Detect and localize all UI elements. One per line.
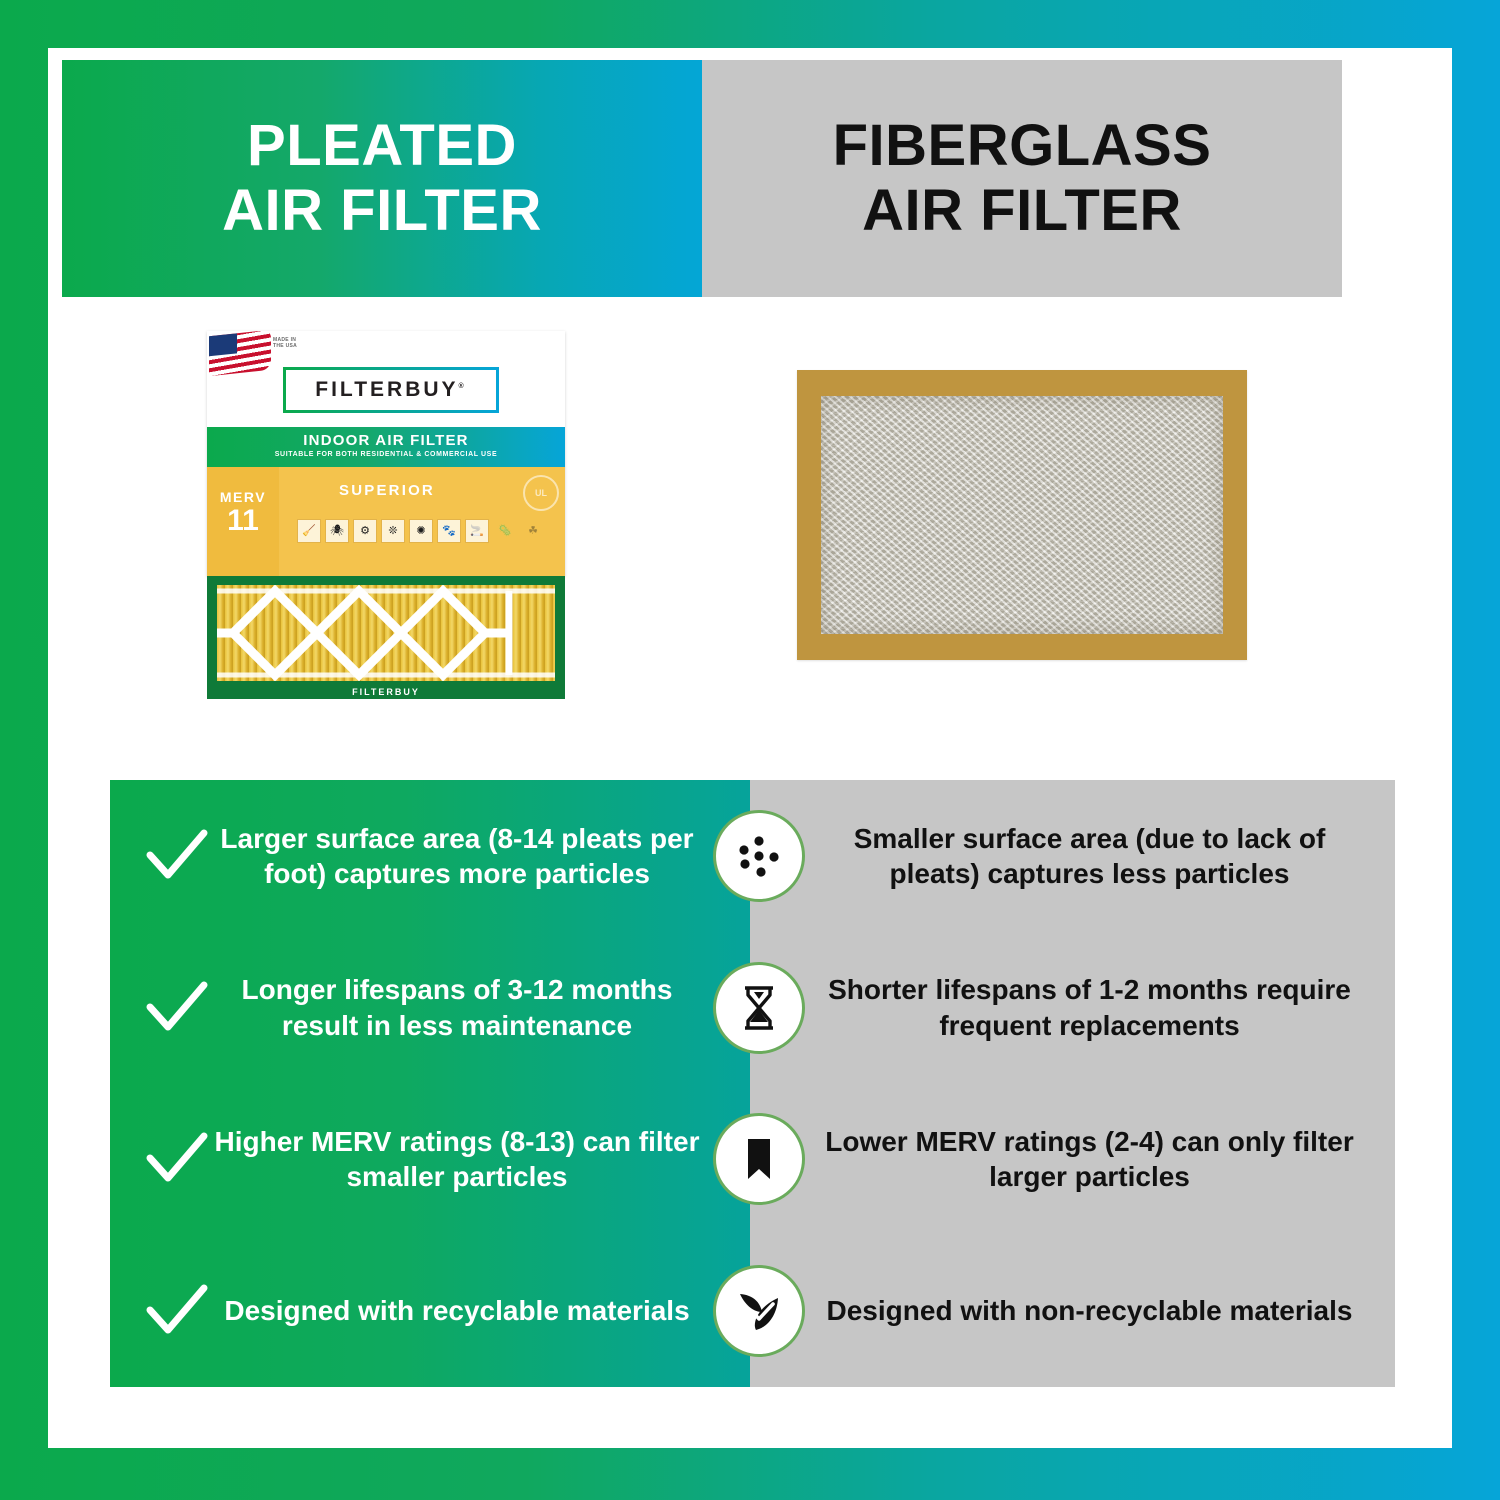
header-pleated-title: PLEATED AIR FILTER: [222, 114, 542, 244]
comparison-row: Larger surface area (8-14 pleats per foo…: [110, 780, 1395, 932]
merv-rating-panel: MERV 11 SUPERIOR UL 🧹 🕷 ⚙ ❊ ✺ 🐾 🚬: [207, 467, 565, 576]
chip-pet-dander-icon: 🐾: [437, 519, 461, 543]
chip-pollen-icon: ⚙: [353, 519, 377, 543]
chip-dustmite-icon: 🕷: [325, 519, 349, 543]
checkmark-icon: [140, 1122, 214, 1196]
pleated-filter-label: MADE IN THE USA FILTERBUY® INDOOR AIR FI…: [207, 331, 565, 576]
comparison-left-cell: Higher MERV ratings (8-13) can filter sm…: [110, 1122, 750, 1196]
particles-icon: [713, 810, 805, 902]
hourglass-icon: [713, 962, 805, 1054]
product-image-row: MADE IN THE USA FILTERBUY® INDOOR AIR FI…: [62, 297, 1342, 733]
checkmark-icon: [140, 971, 214, 1045]
checkmark-icon: [140, 819, 214, 893]
filtration-chip-row: 🧹 🕷 ⚙ ❊ ✺ 🐾 🚬 🦠 ☘: [297, 519, 545, 543]
comparison-row: Longer lifespans of 3-12 months result i…: [110, 932, 1395, 1084]
comparison-left-text: Larger surface area (8-14 pleats per foo…: [214, 821, 726, 892]
comparison-left-text: Higher MERV ratings (8-13) can filter sm…: [214, 1124, 726, 1195]
indoor-air-filter-title: INDOOR AIR FILTER: [207, 432, 565, 449]
brand-word: FILTERBUY: [315, 378, 458, 401]
comparison-right-cell: Designed with non-recyclable materials: [750, 1293, 1395, 1328]
fiberglass-air-filter-image: [797, 370, 1247, 660]
chip-virus-icon: 🦠: [493, 519, 517, 543]
chip-odor-icon: ☘: [521, 519, 545, 543]
indoor-air-filter-subtitle: SUITABLE FOR BOTH RESIDENTIAL & COMMERCI…: [207, 451, 565, 458]
checkmark-icon: [140, 1274, 214, 1348]
comparison-left-cell: Designed with recyclable materials: [110, 1274, 750, 1348]
header-fiberglass-title: FIBERGLASS AIR FILTER: [833, 114, 1212, 244]
comparison-row: Higher MERV ratings (8-13) can filter sm…: [110, 1084, 1395, 1236]
comparison-left-cell: Longer lifespans of 3-12 months result i…: [110, 971, 750, 1045]
comparison-right-text: Shorter lifespans of 1-2 months require …: [824, 972, 1355, 1043]
comparison-right-text: Lower MERV ratings (2-4) can only filter…: [824, 1124, 1355, 1195]
comparison-left-text: Designed with recyclable materials: [214, 1293, 726, 1328]
fiberglass-media-texture: [821, 396, 1223, 634]
filterbuy-brand-text: FILTERBUY®: [315, 378, 466, 402]
wire-mesh-overlay: [217, 585, 555, 681]
pleated-air-filter-image: MADE IN THE USA FILTERBUY® INDOOR AIR FI…: [207, 331, 565, 699]
comparison-right-cell: Shorter lifespans of 1-2 months require …: [750, 972, 1395, 1043]
chip-bacteria-icon: ✺: [409, 519, 433, 543]
merv-value: 11: [207, 505, 279, 537]
ul-certification-icon: UL: [523, 475, 559, 511]
usa-flag-icon: [209, 331, 271, 376]
infographic-root: PLEATED AIR FILTER FIBERGLASS AIR FILTER…: [0, 0, 1500, 1500]
header-fiberglass: FIBERGLASS AIR FILTER: [702, 60, 1342, 297]
header-pleated: PLEATED AIR FILTER: [62, 60, 702, 297]
merv-label: MERV: [207, 489, 279, 505]
comparison-left-cell: Larger surface area (8-14 pleats per foo…: [110, 819, 750, 893]
chip-smoke-icon: 🚬: [465, 519, 489, 543]
pleated-footer-brand: FILTERBUY: [207, 687, 565, 697]
tier-label: SUPERIOR: [279, 467, 495, 513]
trademark-symbol: ®: [459, 383, 467, 390]
comparison-right-cell: Lower MERV ratings (2-4) can only filter…: [750, 1124, 1395, 1195]
pleated-media-section: FILTERBUY: [207, 576, 565, 699]
merv-badge: MERV 11: [207, 467, 279, 576]
pleated-product-cell: MADE IN THE USA FILTERBUY® INDOOR AIR FI…: [62, 297, 702, 733]
header-band: PLEATED AIR FILTER FIBERGLASS AIR FILTER: [62, 60, 1342, 297]
bookmark-icon: [713, 1113, 805, 1205]
indoor-air-filter-band: INDOOR AIR FILTER SUITABLE FOR BOTH RESI…: [207, 427, 565, 467]
pleated-media-texture: [217, 585, 555, 681]
comparison-row: Designed with recyclable materials Desig…: [110, 1235, 1395, 1387]
made-in-usa-text: MADE IN THE USA: [273, 337, 297, 350]
comparison-right-text: Designed with non-recyclable materials: [824, 1293, 1355, 1328]
chip-dust-icon: 🧹: [297, 519, 321, 543]
comparison-right-cell: Smaller surface area (due to lack of ple…: [750, 821, 1395, 892]
filterbuy-brand-box: FILTERBUY®: [283, 367, 499, 413]
comparison-right-text: Smaller surface area (due to lack of ple…: [824, 821, 1355, 892]
comparison-left-text: Longer lifespans of 3-12 months result i…: [214, 972, 726, 1043]
chip-mold-icon: ❊: [381, 519, 405, 543]
leaf-eco-icon: [713, 1265, 805, 1357]
comparison-block: Larger surface area (8-14 pleats per foo…: [110, 780, 1395, 1387]
fiberglass-product-cell: [702, 297, 1342, 733]
